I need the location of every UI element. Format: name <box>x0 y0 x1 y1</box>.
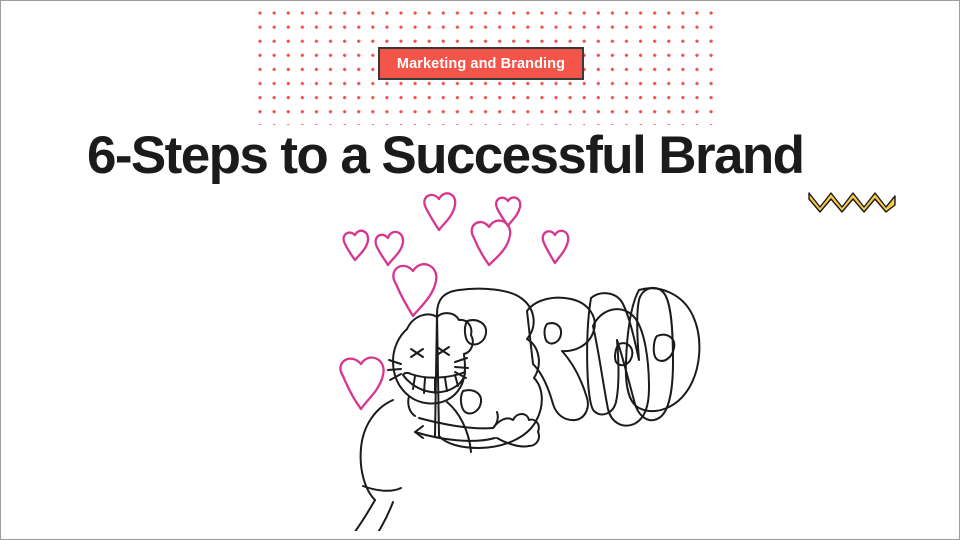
person-figure <box>331 313 539 531</box>
zigzag-accent-icon <box>807 187 897 213</box>
presentation-slide: Marketing and Branding 6-Steps to a Succ… <box>0 0 960 540</box>
category-badge: Marketing and Branding <box>378 47 584 80</box>
category-badge-label: Marketing and Branding <box>397 56 565 72</box>
brand-bubble-lettering <box>435 288 699 448</box>
person-hugging-brand-lettering-illustration <box>331 186 711 531</box>
page-title: 6-Steps to a Successful Brand <box>87 129 907 182</box>
